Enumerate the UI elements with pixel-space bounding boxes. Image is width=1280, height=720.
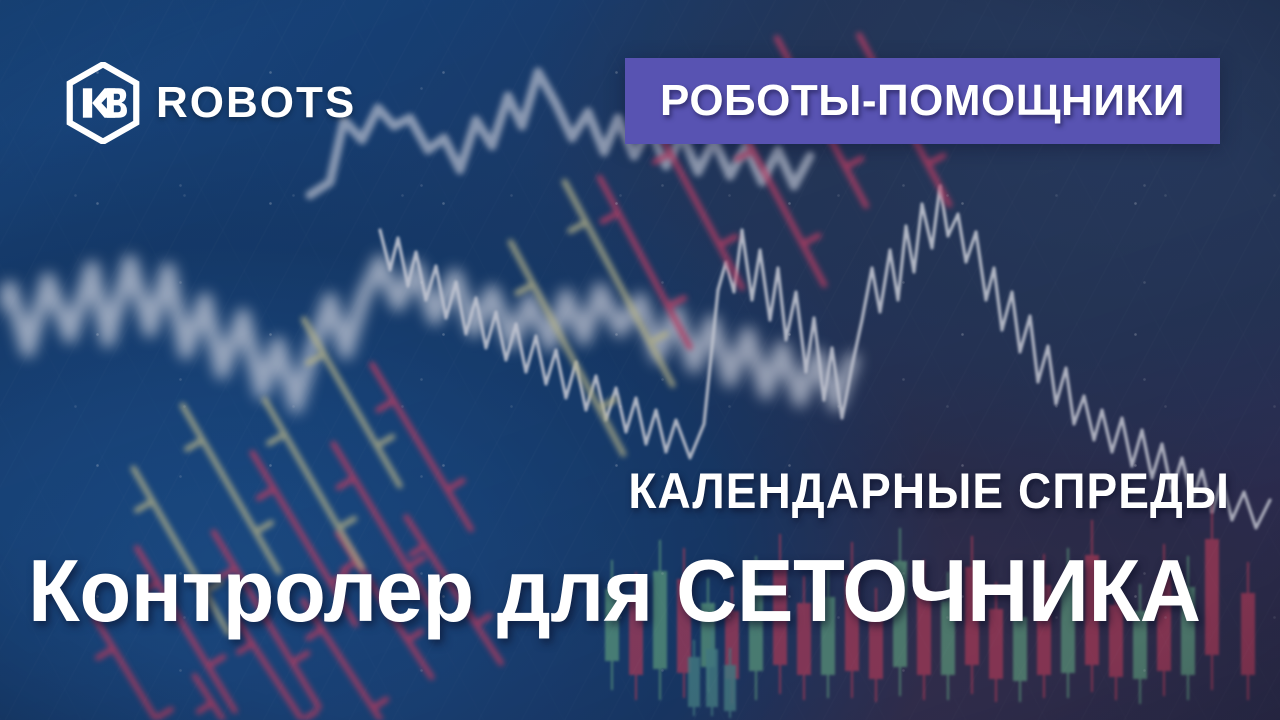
category-badge-label: РОБОТЫ-ПОМОЩНИКИ — [660, 76, 1185, 126]
page-title: Контролер для СЕТОЧНИКА — [28, 540, 1201, 642]
kb-hexagon-logo-icon — [64, 62, 142, 144]
category-badge[interactable]: РОБОТЫ-ПОМОЩНИКИ — [625, 58, 1220, 144]
brand-logo[interactable]: ROBOTS — [64, 62, 356, 144]
poster-canvas: ROBOTS РОБОТЫ-ПОМОЩНИКИ КАЛЕНДАРНЫЕ СПРЕ… — [0, 0, 1280, 720]
brand-wordmark: ROBOTS — [156, 81, 356, 125]
subtitle-text: КАЛЕНДАРНЫЕ СПРЕДЫ — [628, 462, 1230, 520]
